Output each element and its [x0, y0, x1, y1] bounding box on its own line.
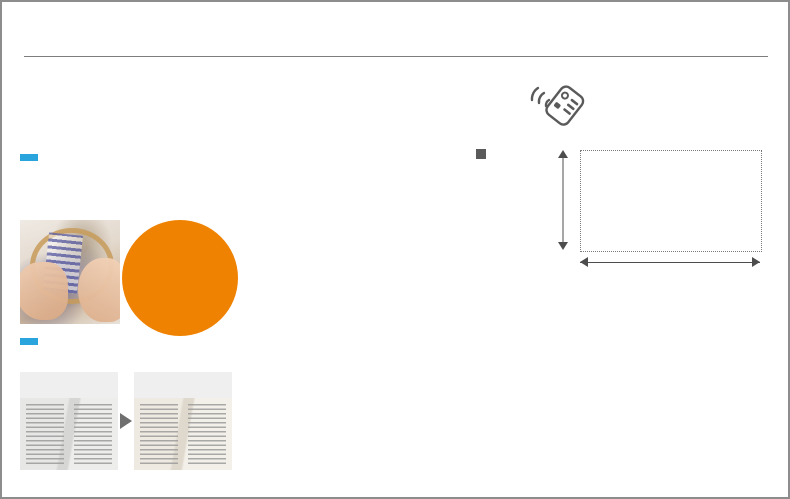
diagram-title	[476, 146, 558, 178]
embroidery-photo	[20, 220, 120, 324]
book-text-lines-left-2	[140, 402, 178, 464]
book-text-lines-left	[26, 402, 64, 464]
arrow-up-icon	[558, 150, 568, 158]
x-axis-line	[580, 262, 760, 263]
chart-plot-area	[580, 150, 762, 252]
dimming-range-diagram	[472, 136, 782, 268]
book-text-lines-right	[74, 402, 112, 464]
x-axis	[580, 254, 760, 270]
square-bullet-icon	[476, 149, 486, 159]
circle-badge-brightness-up	[122, 220, 238, 336]
arrow-right-icon-axis	[752, 257, 760, 267]
book-caption-6200k	[134, 372, 232, 398]
y-axis-line	[563, 158, 564, 242]
book-caption-5000k	[20, 372, 118, 398]
book-photo-5000k	[20, 372, 118, 470]
remote-control-icon	[522, 78, 592, 126]
arrow-down-icon	[558, 242, 568, 250]
hand-left	[20, 262, 68, 320]
badge-brightness-up	[20, 154, 38, 161]
book-comparison	[20, 372, 232, 470]
hand-right	[78, 258, 120, 322]
book-photo-6200k	[134, 372, 232, 470]
header-divider	[24, 56, 768, 57]
book-text-lines-right-2	[188, 402, 226, 464]
arrow-right-icon	[120, 413, 132, 429]
badge-clear-text-light	[20, 338, 38, 345]
y-axis	[550, 150, 576, 250]
arrow-left-icon	[580, 257, 588, 267]
left-feature-column	[20, 148, 232, 174]
catalog-page	[0, 0, 790, 499]
